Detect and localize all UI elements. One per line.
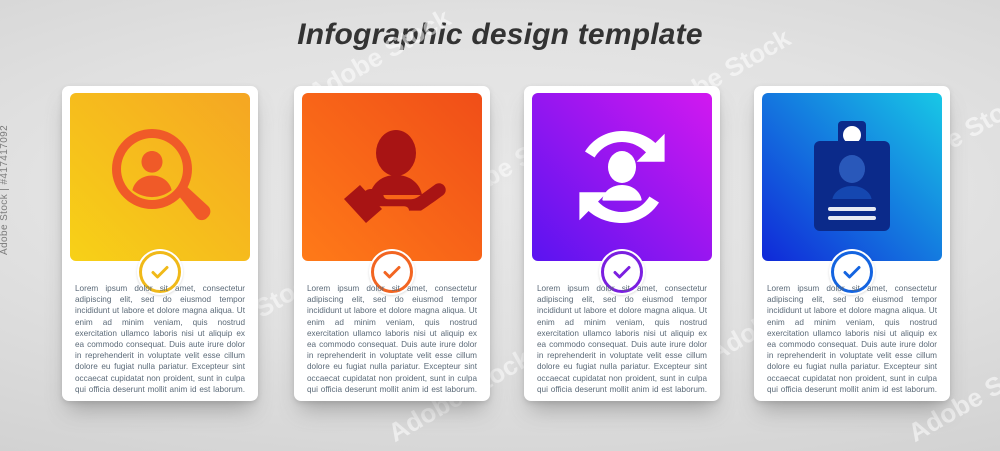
person-refresh-arrows-icon <box>532 93 712 261</box>
card-body-text: Lorem ipsum dolor sit amet, consectetur … <box>537 283 707 406</box>
card-body-text: Lorem ipsum dolor sit amet, consectetur … <box>767 283 937 406</box>
infographic-canvas: Infographic design template Adobe StockA… <box>0 0 1000 451</box>
card-icon-tile <box>302 93 482 261</box>
card-body-text: Lorem ipsum dolor sit amet, consectetur … <box>307 283 477 406</box>
hand-holding-person-icon <box>302 93 482 261</box>
card-icon-tile <box>532 93 712 261</box>
info-card[interactable]: Lorem ipsum dolor sit amet, consectetur … <box>62 86 258 401</box>
card-body-text: Lorem ipsum dolor sit amet, consectetur … <box>75 283 245 406</box>
card-icon-tile <box>762 93 942 261</box>
info-card[interactable]: Lorem ipsum dolor sit amet, consectetur … <box>294 86 490 401</box>
card-icon-tile <box>70 93 250 261</box>
card-list: Lorem ipsum dolor sit amet, consectetur … <box>0 0 1000 451</box>
person-search-magnifier-icon <box>70 93 250 261</box>
info-card[interactable]: Lorem ipsum dolor sit amet, consectetur … <box>524 86 720 401</box>
info-card[interactable]: Lorem ipsum dolor sit amet, consectetur … <box>754 86 950 401</box>
id-badge-card-icon <box>762 93 942 261</box>
